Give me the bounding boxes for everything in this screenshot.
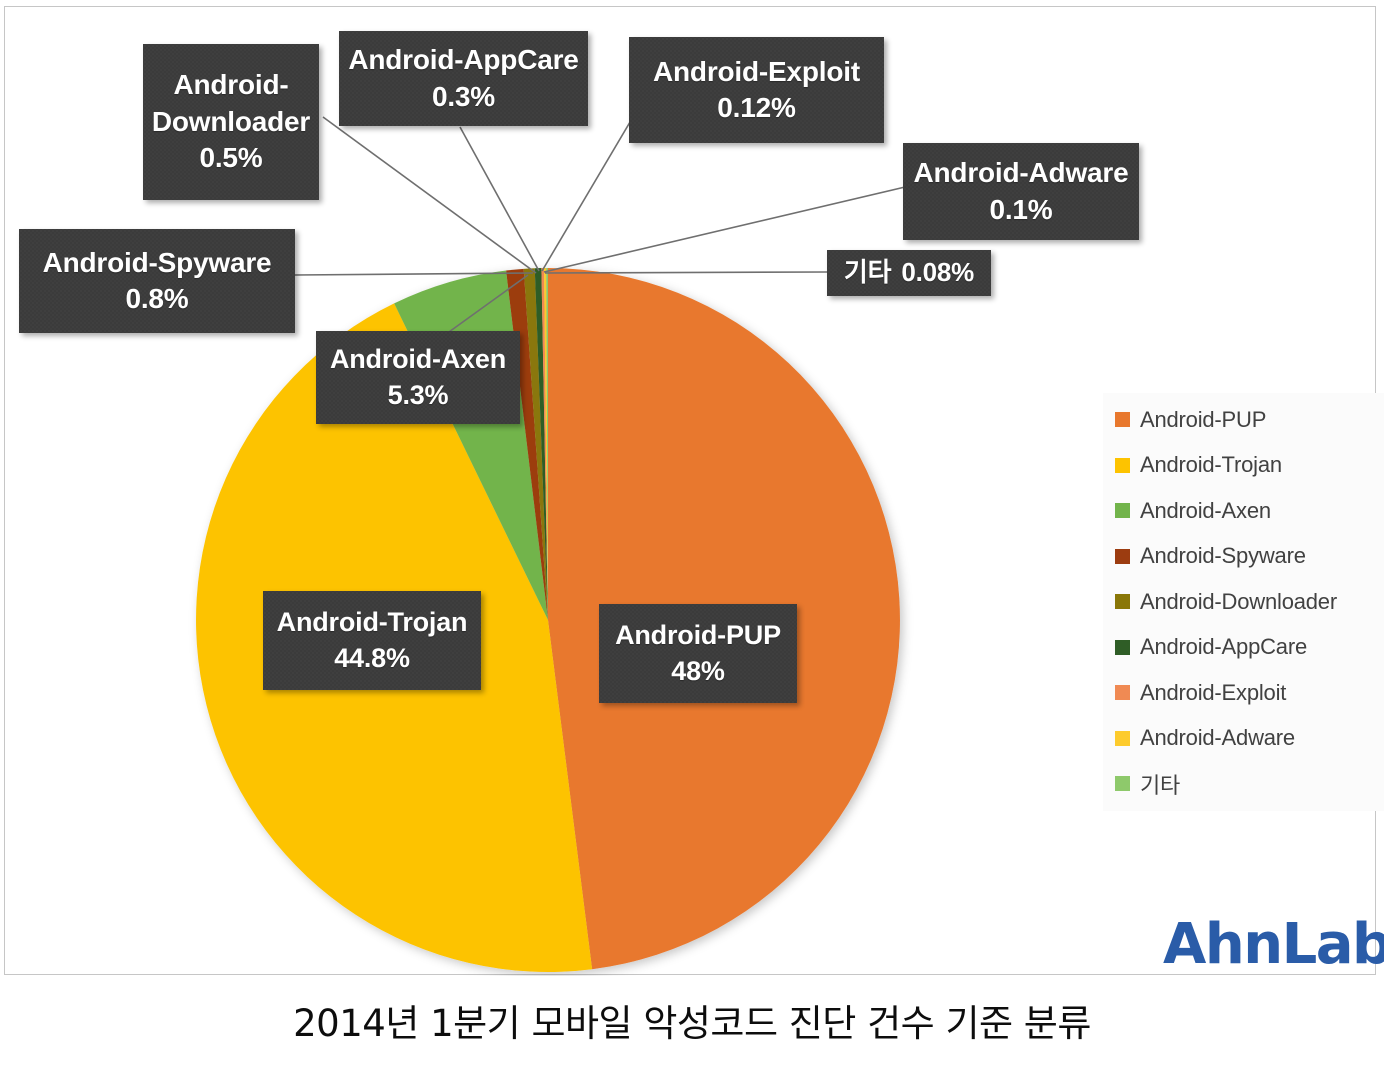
legend-swatch-icon <box>1115 412 1130 427</box>
callout-appcare-value: 0.3% <box>432 79 495 115</box>
legend-item[interactable]: Android-Axen <box>1103 488 1384 534</box>
legend-item[interactable]: Android-Spyware <box>1103 534 1384 580</box>
leader-line <box>442 275 528 337</box>
legend-item[interactable]: Android-Exploit <box>1103 670 1384 716</box>
leader-line <box>542 117 633 271</box>
callout-etc: 기타 0.08% <box>827 250 991 296</box>
legend-item-label: Android-Downloader <box>1140 589 1337 615</box>
callout-spyware-value: 0.8% <box>125 281 188 317</box>
callout-spyware-name: Android-Spyware <box>43 245 272 281</box>
leader-line <box>323 117 536 273</box>
callout-axen: Android-Axen 5.3% <box>316 331 520 424</box>
callout-trojan-name: Android-Trojan <box>277 605 468 640</box>
leader-line <box>460 127 539 271</box>
leader-line <box>295 273 533 275</box>
callout-exploit: Android-Exploit 0.12% <box>629 37 884 143</box>
legend-swatch-icon <box>1115 594 1130 609</box>
legend-item-label: Android-Trojan <box>1140 452 1282 478</box>
chart-frame: Android- Downloader 0.5% Android-AppCare… <box>4 6 1376 975</box>
legend-item-label: Android-Axen <box>1140 498 1271 524</box>
callout-downloader: Android- Downloader 0.5% <box>143 44 319 200</box>
legend-swatch-icon <box>1115 549 1130 564</box>
chart-caption: 2014년 1분기 모바일 악성코드 진단 건수 기준 분류 <box>0 993 1384 1047</box>
legend-item[interactable]: 기타 <box>1103 761 1384 807</box>
callout-axen-name: Android-Axen <box>330 342 506 377</box>
legend-item-label: Android-AppCare <box>1140 634 1307 660</box>
callout-axen-value: 5.3% <box>388 378 449 413</box>
legend-swatch-icon <box>1115 731 1130 746</box>
callout-exploit-name: Android-Exploit <box>653 54 860 90</box>
legend-item-label: 기타 <box>1140 768 1180 800</box>
callout-appcare-name: Android-AppCare <box>348 42 578 78</box>
ahnlab-logo: AhnLab <box>1163 912 1384 977</box>
chart-legend: Android-PUPAndroid-TrojanAndroid-AxenAnd… <box>1103 393 1384 811</box>
legend-item-label: Android-Spyware <box>1140 543 1306 569</box>
legend-swatch-icon <box>1115 503 1130 518</box>
legend-item[interactable]: Android-PUP <box>1103 397 1384 443</box>
legend-swatch-icon <box>1115 685 1130 700</box>
legend-item-label: Android-Adware <box>1140 725 1295 751</box>
callout-appcare: Android-AppCare 0.3% <box>339 31 588 126</box>
legend-item[interactable]: Android-Trojan <box>1103 443 1384 489</box>
callout-spyware: Android-Spyware 0.8% <box>19 229 295 333</box>
callout-etc-name: 기타 <box>844 256 891 290</box>
callout-pup-value: 48% <box>671 654 724 689</box>
callout-adware-name: Android-Adware <box>914 155 1129 191</box>
callout-trojan-value: 44.8% <box>334 641 410 676</box>
callout-downloader-value: 0.5% <box>199 140 262 176</box>
callout-adware-value: 0.1% <box>989 192 1052 228</box>
callout-adware: Android-Adware 0.1% <box>903 143 1139 240</box>
legend-item-label: Android-PUP <box>1140 407 1266 433</box>
callout-pup: Android-PUP 48% <box>599 604 797 703</box>
leader-line <box>545 272 827 273</box>
legend-item[interactable]: Android-AppCare <box>1103 625 1384 671</box>
legend-swatch-icon <box>1115 640 1130 655</box>
legend-swatch-icon <box>1115 776 1130 791</box>
callout-exploit-value: 0.12% <box>717 90 795 126</box>
legend-item-label: Android-Exploit <box>1140 680 1286 706</box>
legend-item[interactable]: Android-Adware <box>1103 716 1384 762</box>
callout-downloader-name: Android- <box>173 67 288 103</box>
callout-downloader-name2: Downloader <box>152 104 310 140</box>
legend-swatch-icon <box>1115 458 1130 473</box>
callout-pup-name: Android-PUP <box>615 618 781 653</box>
callout-trojan: Android-Trojan 44.8% <box>263 591 481 690</box>
legend-item[interactable]: Android-Downloader <box>1103 579 1384 625</box>
callout-etc-value: 0.08% <box>901 256 974 290</box>
